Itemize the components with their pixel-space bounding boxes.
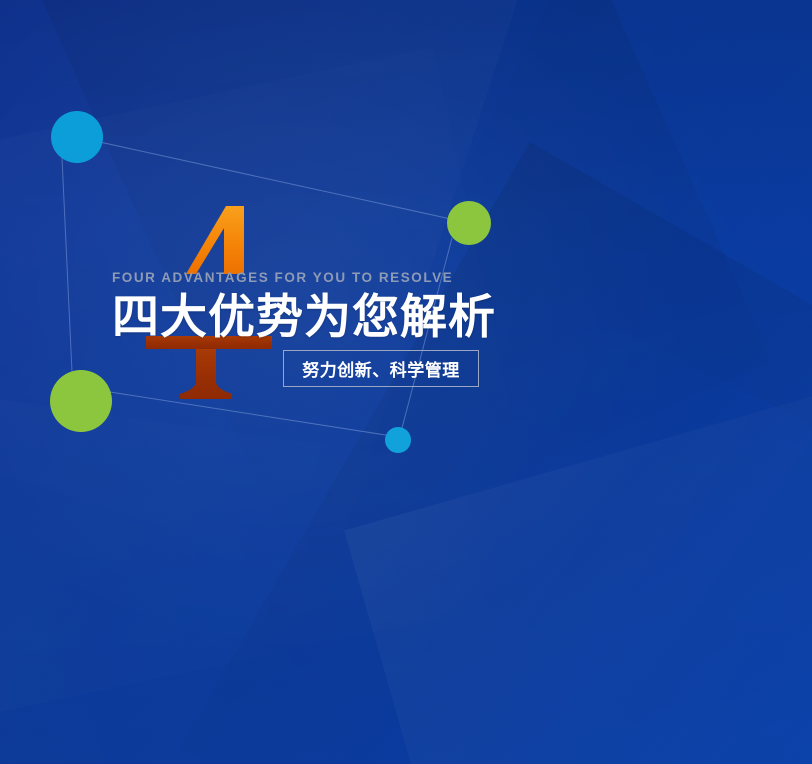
- logo-a-icon: [186, 206, 258, 274]
- tagline-box: 努力创新、科学管理: [283, 350, 479, 387]
- node-green-bottom-left: [50, 370, 112, 432]
- banner-canvas: FOUR ADVANTAGES FOR YOU TO RESOLVE 四大优势为…: [0, 0, 812, 764]
- page-title: 四大优势为您解析: [112, 289, 732, 345]
- line-cyan-tl-to-green-bl: [62, 158, 72, 372]
- line-cyan-tl-to-green-right: [77, 137, 469, 223]
- headline-block: FOUR ADVANTAGES FOR YOU TO RESOLVE 四大优势为…: [112, 270, 732, 345]
- tagline-text: 努力创新、科学管理: [302, 356, 460, 381]
- english-subtitle: FOUR ADVANTAGES FOR YOU TO RESOLVE: [112, 270, 732, 286]
- node-green-right: [447, 201, 491, 245]
- node-cyan-bottom: [385, 427, 411, 453]
- node-cyan-top-left: [51, 111, 103, 163]
